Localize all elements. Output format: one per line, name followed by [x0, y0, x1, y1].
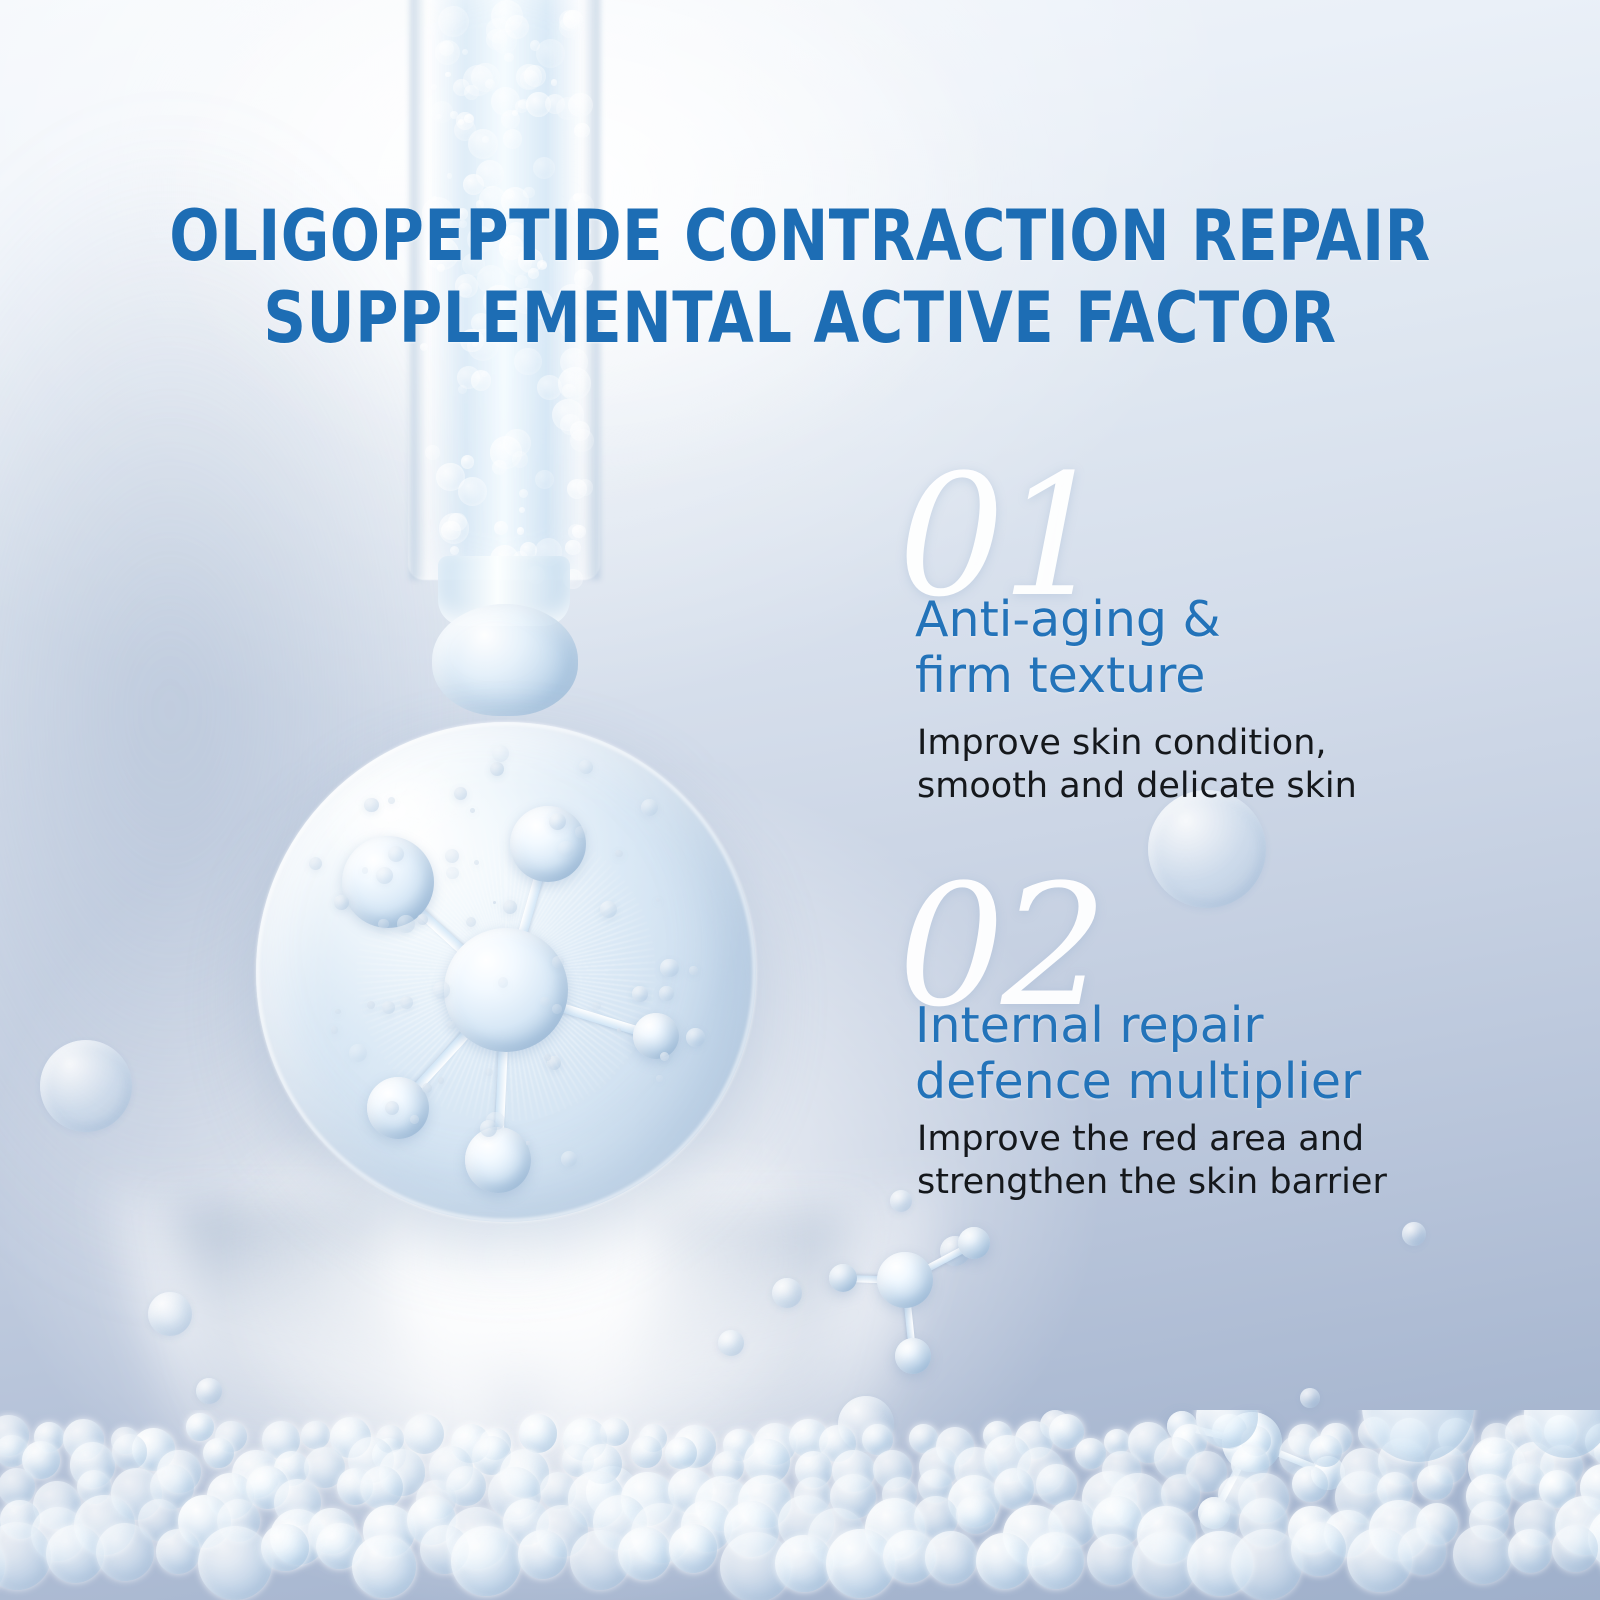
pipette-bubble	[563, 10, 582, 29]
pipette-bubble	[551, 79, 557, 85]
foam-bubble	[451, 1526, 520, 1595]
foam-bubble	[1453, 1525, 1512, 1584]
title-line-1: OLIGOPEPTIDE CONTRACTION REPAIR	[48, 195, 1552, 278]
sphere-inner-bubble	[466, 917, 476, 927]
pipette-bubble	[574, 123, 589, 138]
pipette-bubble	[565, 540, 580, 555]
molecule-a-atom	[895, 1338, 931, 1374]
foam-bubble	[600, 1418, 628, 1446]
pipette-bubble	[537, 375, 562, 400]
foam-bubble	[301, 1421, 330, 1450]
pipette-bubble	[562, 384, 576, 398]
floating-bubble	[772, 1278, 802, 1308]
foam-bubble	[96, 1523, 154, 1581]
pipette-bubble	[494, 521, 508, 535]
foam-bubble	[1508, 1529, 1552, 1573]
molecule-a-center-atom	[877, 1252, 933, 1308]
sphere-inner-bubble	[388, 797, 395, 804]
pipette-bulb-tip	[432, 604, 578, 716]
foam-bubble	[446, 1466, 486, 1506]
foam-bubble	[775, 1535, 832, 1592]
sphere-inner-bubble	[544, 1054, 551, 1061]
foam-bubble	[631, 1436, 662, 1467]
pipette-bubble	[461, 455, 475, 469]
sphere-inner-bubble	[526, 1141, 529, 1144]
foam-bubble	[352, 1535, 416, 1599]
foam-bubble	[1231, 1529, 1302, 1600]
pipette-bubble	[435, 40, 460, 65]
feature-heading-01: Anti-aging & firm texture	[915, 592, 1221, 704]
pipette-bubble	[519, 489, 528, 498]
feature-body-01: Improve skin condition, smooth and delic…	[917, 722, 1357, 807]
pipette-bubble	[431, 84, 437, 90]
foam-bubble	[156, 1529, 201, 1574]
foam-bubble	[925, 1531, 977, 1583]
sphere-inner-bubble	[498, 977, 508, 987]
feature-body-02-line-2: strengthen the skin barrier	[917, 1161, 1387, 1204]
feature-body-01-line-2: smooth and delicate skin	[917, 765, 1357, 808]
pipette-bubble	[490, 436, 522, 468]
sphere-inner-bubble	[378, 919, 388, 929]
sphere-inner-bubble	[632, 986, 648, 1002]
sphere-inner-bubble	[410, 1115, 419, 1124]
sphere-inner-bubble	[540, 997, 549, 1006]
page-title: OLIGOPEPTIDE CONTRACTION REPAIR SUPPLEME…	[0, 195, 1600, 360]
floating-bubble	[40, 1040, 132, 1132]
molecule-a-atom	[958, 1227, 990, 1259]
sphere-inner-bubble	[600, 901, 617, 918]
foam-bubble	[261, 1524, 309, 1572]
sphere-inner-bubble	[445, 849, 459, 863]
floating-bubble	[148, 1292, 192, 1336]
sphere-inner-bubble	[382, 1001, 395, 1014]
feature-body-02-line-1: Improve the red area and	[917, 1118, 1387, 1161]
molecule-atom	[633, 1013, 679, 1059]
floating-bubble	[1148, 790, 1266, 908]
sphere-inner-bubble	[549, 813, 566, 830]
feature-heading-02: Internal repair defence multiplier	[915, 998, 1361, 1110]
floating-bubble	[196, 1378, 222, 1404]
pipette-bubble	[454, 119, 476, 141]
floating-bubble	[1300, 1388, 1320, 1408]
foam-bubble	[112, 1434, 147, 1469]
pipette-bubble	[512, 110, 518, 116]
foam-bubble	[186, 1413, 214, 1441]
floating-bubble	[718, 1330, 744, 1356]
pipette-bubble	[436, 114, 441, 119]
feature-heading-02-line-1: Internal repair	[915, 998, 1361, 1054]
pipette-bubble	[458, 477, 487, 506]
sphere-inner-bubble	[503, 900, 517, 914]
foam-bubble	[518, 1530, 566, 1578]
sphere-inner-bubble	[364, 798, 379, 813]
sphere-inner-bubble	[376, 867, 393, 884]
floating-bubble	[1402, 1222, 1426, 1246]
foam-bubble	[1036, 1464, 1077, 1505]
pipette-bubble	[476, 160, 504, 188]
sphere-inner-bubble	[388, 846, 404, 862]
foam-bubble	[669, 1524, 717, 1572]
foam-bubble	[665, 1437, 697, 1469]
pipette-bubble	[438, 6, 469, 37]
foam-bubble	[1027, 1532, 1084, 1589]
pipette-bubble	[524, 65, 546, 87]
pipette-bubble	[570, 429, 593, 452]
bubble-foam-band	[0, 1410, 1600, 1600]
pipette-bubble	[517, 527, 525, 535]
feature-body-01-line-1: Improve skin condition,	[917, 722, 1357, 765]
sphere-inner-bubble	[561, 1151, 577, 1167]
pipette-bubble	[526, 92, 551, 117]
feature-body-02: Improve the red area and strengthen the …	[917, 1118, 1387, 1203]
sphere-inner-bubble	[485, 1068, 493, 1076]
foam-bubble	[1292, 1466, 1328, 1502]
molecule-atom	[510, 806, 586, 882]
sphere-inner-bubble	[362, 867, 369, 874]
product-poster: OLIGOPEPTIDE CONTRACTION REPAIR SUPPLEME…	[0, 0, 1600, 1600]
pipette-bubble	[441, 521, 460, 540]
pipette-bubble	[568, 93, 592, 117]
pipette-bubble	[464, 85, 479, 100]
foam-bubble	[519, 1414, 557, 1452]
foam-bubble	[203, 1438, 234, 1469]
molecule-a-atom	[829, 1264, 857, 1292]
molecule-atom	[465, 1127, 531, 1193]
sphere-inner-bubble	[592, 1002, 600, 1010]
foam-bubble	[404, 1414, 444, 1454]
sphere-inner-bubble	[397, 915, 415, 933]
sphere-inner-bubble	[492, 745, 509, 762]
sphere-inner-bubble	[579, 760, 593, 774]
foam-bubble	[360, 1466, 403, 1509]
foam-bubble	[618, 1527, 671, 1580]
foam-bubble	[1417, 1465, 1452, 1500]
pipette-bubble	[568, 524, 584, 540]
feature-heading-01-line-1: Anti-aging &	[915, 592, 1221, 648]
foam-bubble	[994, 1468, 1034, 1508]
sphere-inner-bubble	[334, 895, 349, 910]
sphere-inner-bubble	[400, 996, 413, 1009]
sphere-inner-bubble	[446, 867, 458, 879]
foam-bubble	[198, 1526, 272, 1600]
sphere-inner-bubble	[659, 986, 673, 1000]
foam-bubble	[1552, 1525, 1598, 1571]
floating-bubble	[890, 1190, 912, 1212]
sphere-inner-bubble	[474, 860, 479, 865]
molecule-center-atom	[444, 928, 568, 1052]
sphere-inner-bubble	[615, 850, 622, 857]
feature-heading-02-line-2: defence multiplier	[915, 1054, 1361, 1110]
pipette-bubble	[535, 470, 554, 489]
pipette-bubble	[450, 111, 457, 118]
pipette-bubble	[503, 129, 522, 148]
sphere-inner-bubble	[656, 1075, 663, 1082]
foam-bubble	[956, 1495, 995, 1534]
foam-bubble	[976, 1533, 1032, 1589]
foam-bubble	[1309, 1435, 1342, 1468]
sphere-inner-bubble	[447, 1021, 455, 1029]
foam-bubble	[1398, 1527, 1446, 1575]
pipette-bubble	[492, 29, 517, 54]
foam-bubble	[46, 1525, 104, 1583]
sphere-inner-bubble	[552, 956, 564, 968]
sphere-inner-bubble	[656, 898, 660, 902]
pipette-bubble	[425, 445, 440, 460]
foam-bubble	[1087, 1534, 1138, 1585]
sphere-inner-bubble	[558, 841, 574, 857]
pipette-bubble	[471, 370, 491, 390]
foam-bubble	[1291, 1522, 1345, 1576]
sphere-inner-bubble	[686, 1028, 705, 1047]
sphere-inner-bubble	[417, 914, 428, 925]
title-line-2: SUPPLEMENTAL ACTIVE FACTOR	[48, 277, 1552, 360]
sphere-inner-bubble	[331, 1026, 338, 1033]
feature-heading-01-line-2: firm texture	[915, 648, 1221, 704]
pipette-bubble	[567, 479, 587, 499]
